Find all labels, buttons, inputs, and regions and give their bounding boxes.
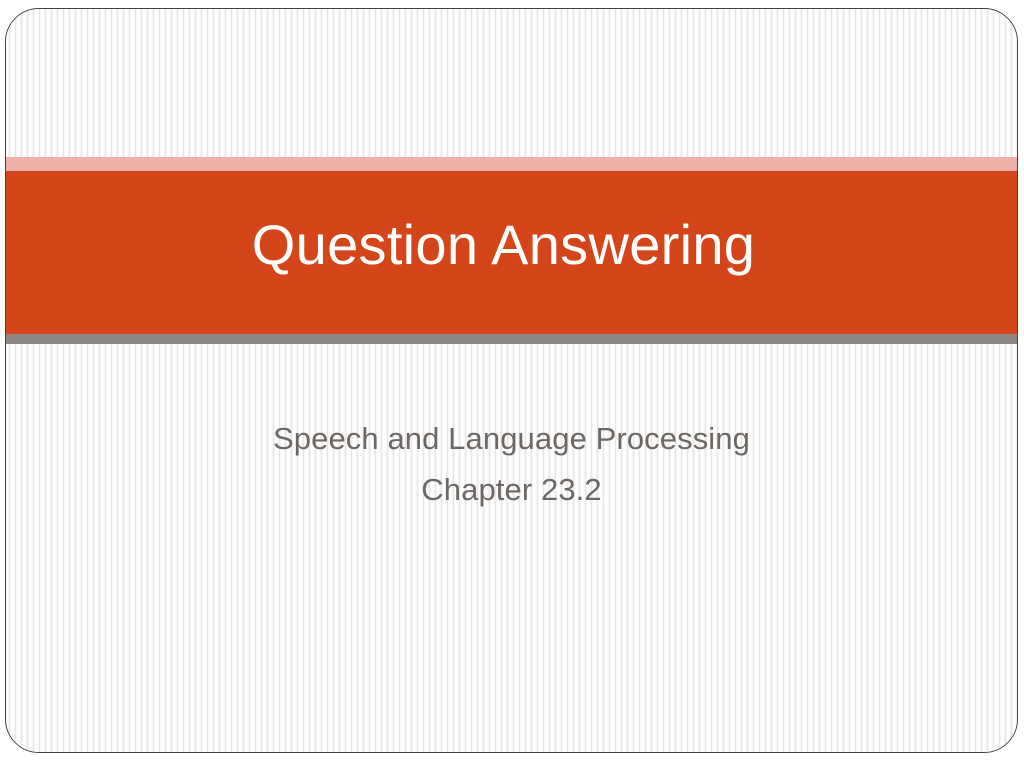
- subtitle-line-chapter: Chapter 23.2: [6, 464, 1017, 515]
- accent-band-pink: [5, 157, 1018, 171]
- page-title: Question Answering: [5, 217, 1011, 273]
- accent-band-gray: [5, 334, 1018, 344]
- striped-background-texture: [6, 9, 1017, 752]
- title-banner: Question Answering: [5, 157, 1018, 344]
- slide-canvas: Question Answering Speech and Language P…: [5, 8, 1018, 753]
- slide-subtitle: Speech and Language Processing Chapter 2…: [6, 413, 1017, 515]
- title-band-orange: Question Answering: [5, 171, 1018, 334]
- subtitle-line-book: Speech and Language Processing: [6, 413, 1017, 464]
